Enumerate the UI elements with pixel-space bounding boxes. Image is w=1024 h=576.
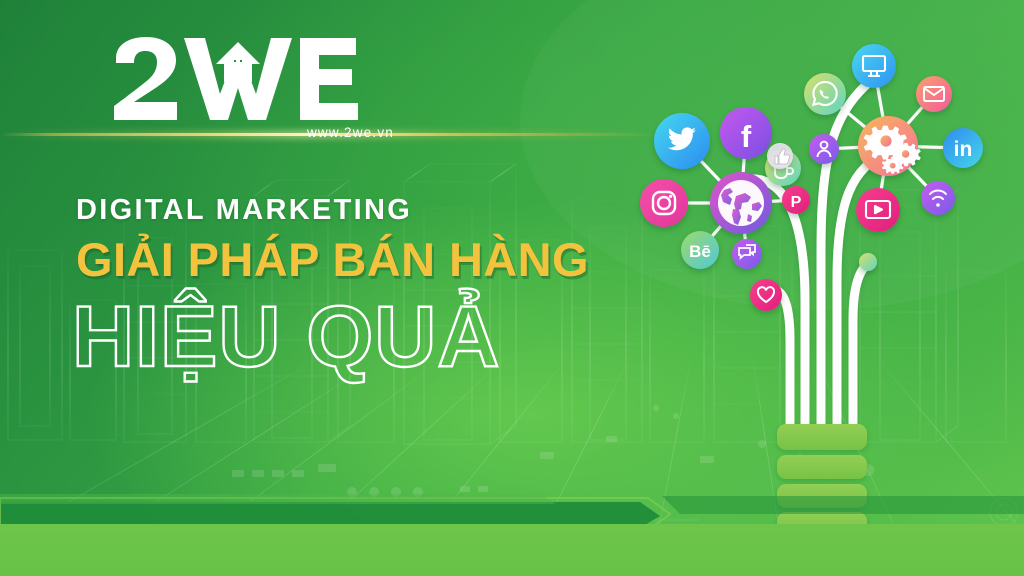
monitor-node[interactable] — [852, 44, 896, 88]
pinterest-icon: P — [791, 194, 802, 211]
marketing-banner: www.2we.vn DIGITAL MARKETING GIẢI PHÁP B… — [0, 0, 1024, 576]
twitter-node[interactable] — [654, 113, 710, 169]
facebook-node[interactable]: f — [720, 107, 772, 159]
pinterest-node[interactable]: P — [782, 186, 810, 214]
heart-node[interactable] — [750, 279, 782, 311]
wifi-node[interactable] — [921, 181, 955, 215]
gears-hub[interactable] — [858, 116, 921, 176]
youtube-node[interactable] — [856, 188, 900, 232]
behance-icon: Bē — [689, 242, 711, 261]
email-node[interactable] — [916, 76, 952, 112]
chat-node[interactable] — [732, 239, 762, 269]
whatsapp-node[interactable] — [804, 73, 846, 115]
facebook-icon: f — [741, 119, 752, 154]
social-icon-network: f Bē — [0, 0, 1024, 576]
instagram-node[interactable] — [640, 179, 688, 227]
linkedin-icon: in — [954, 138, 973, 161]
thumbsup-node[interactable] — [767, 143, 793, 169]
user-node[interactable] — [809, 134, 839, 164]
behance-node[interactable]: Bē — [681, 231, 719, 269]
bottom-bar — [0, 524, 1024, 576]
dot-node[interactable] — [859, 253, 877, 271]
linkedin-node[interactable]: in — [943, 128, 983, 168]
